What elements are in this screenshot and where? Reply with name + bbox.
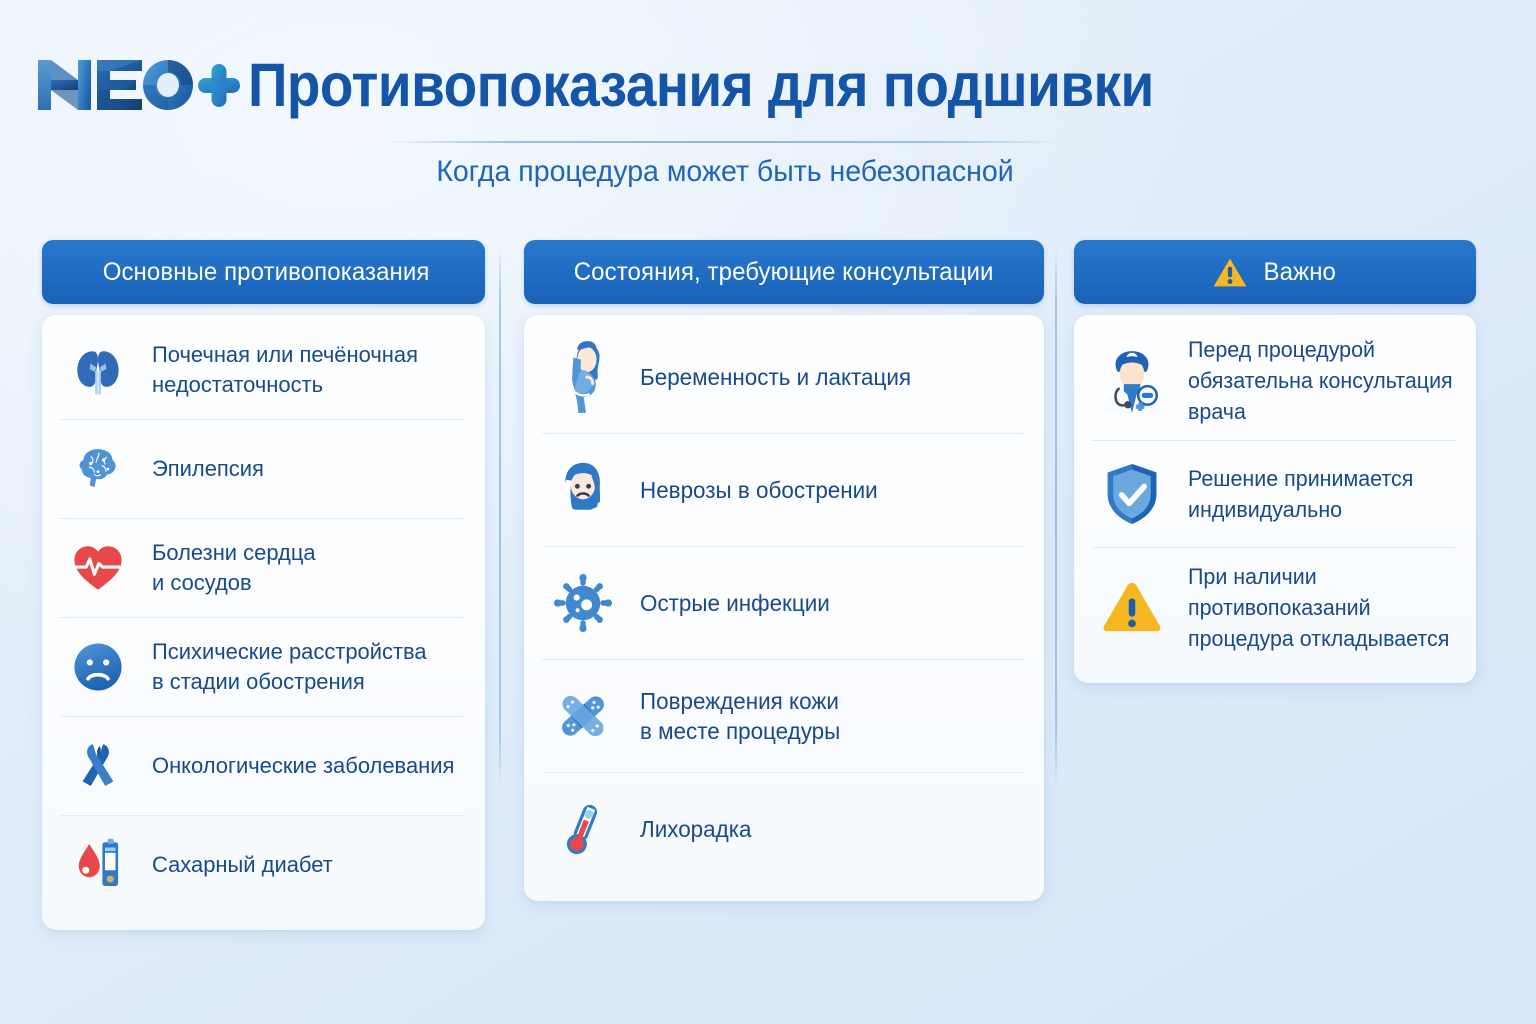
- list-item[interactable]: Почечная или печёночная недостаточность: [60, 321, 465, 420]
- list-item-line: Почечная или печёночная: [152, 340, 418, 370]
- list-item-text: Онкологические заболевания: [152, 751, 454, 781]
- list-item[interactable]: Онкологические заболевания: [60, 717, 465, 816]
- list-item-line: недостаточность: [152, 370, 418, 400]
- list-item-text: Лихорадка: [640, 814, 751, 844]
- sad-face-icon: [62, 631, 134, 703]
- list-item-text: Психические расстройства в стадии обостр…: [152, 637, 427, 697]
- list-item-line: Неврозы в обострении: [640, 475, 878, 505]
- list-item-line: процедура откладывается: [1188, 623, 1449, 654]
- list-item[interactable]: Неврозы в обострении: [542, 434, 1024, 547]
- distressed-woman-icon: [544, 448, 622, 532]
- warning-triangle-icon: [1212, 256, 1248, 289]
- list-item-line: в месте процедуры: [640, 716, 840, 746]
- list-item[interactable]: Беременность и лактация: [542, 321, 1024, 434]
- column-3-header-label: Важно: [1264, 258, 1336, 287]
- list-item-line: противопоказаний: [1188, 592, 1449, 623]
- list-item-text: Сахарный диабет: [152, 850, 333, 880]
- column-3-card: Перед процедурой обязательна консультаци…: [1074, 315, 1476, 683]
- column-main-contraindications: Основные противопоказания Почечная или п…: [42, 240, 485, 930]
- list-item[interactable]: Решение принимается индивидуально: [1092, 441, 1456, 548]
- column-consultation-conditions: Состояния, требующие консультации: [524, 240, 1044, 901]
- column-2-header: Состояния, требующие консультации: [524, 240, 1044, 304]
- list-item-text: Болезни сердца и сосудов: [152, 538, 316, 598]
- list-item[interactable]: Психические расстройства в стадии обостр…: [60, 618, 465, 717]
- kidneys-icon: [62, 334, 134, 406]
- list-item[interactable]: Эпилепсия: [60, 420, 465, 519]
- list-item-line: Психические расстройства: [152, 637, 427, 667]
- list-item-line: Острые инфекции: [640, 588, 830, 618]
- brain-icon: [62, 433, 134, 505]
- column-1-card: Почечная или печёночная недостаточность: [42, 315, 485, 930]
- awareness-ribbon-icon: [62, 730, 134, 802]
- list-item-line: Лихорадка: [640, 814, 751, 844]
- list-item-text: Почечная или печёночная недостаточность: [152, 340, 418, 400]
- heart-pulse-icon: [62, 532, 134, 604]
- blood-glucose-meter-icon: [62, 829, 134, 901]
- pregnant-woman-icon: [544, 335, 622, 419]
- list-item-line: обязательна консультация: [1188, 365, 1453, 396]
- list-item[interactable]: При наличии противопоказаний процедура о…: [1092, 548, 1456, 667]
- column-important: Важно: [1074, 240, 1476, 683]
- list-item-line: врача: [1188, 396, 1453, 427]
- list-item-text: Повреждения кожи в месте процедуры: [640, 686, 840, 746]
- list-item-line: При наличии: [1188, 561, 1449, 592]
- list-item[interactable]: Сахарный диабет: [60, 816, 465, 914]
- list-item-text: Решение принимается индивидуально: [1188, 463, 1413, 525]
- list-item-line: Эпилепсия: [152, 454, 264, 484]
- list-item-line: индивидуально: [1188, 494, 1413, 525]
- list-item[interactable]: Перед процедурой обязательна консультаци…: [1092, 321, 1456, 441]
- columns-area: Основные противопоказания Почечная или п…: [0, 0, 1536, 1024]
- list-item-text: Эпилепсия: [152, 454, 264, 484]
- doctor-icon: [1094, 341, 1170, 421]
- list-item-line: Беременность и лактация: [640, 362, 911, 392]
- column-divider-1: [499, 246, 501, 786]
- column-3-header: Важно: [1074, 240, 1476, 304]
- column-2-header-label: Состояния, требующие консультации: [574, 258, 994, 287]
- column-2-card: Беременность и лактация Не: [524, 315, 1044, 901]
- column-divider-2: [1055, 246, 1057, 788]
- list-item-line: Перед процедурой: [1188, 334, 1453, 365]
- list-item[interactable]: Острые инфекции: [542, 547, 1024, 660]
- list-item-text: Неврозы в обострении: [640, 475, 878, 505]
- list-item-line: Онкологические заболевания: [152, 751, 454, 781]
- list-item-line: Болезни сердца: [152, 538, 316, 568]
- list-item-text: При наличии противопоказаний процедура о…: [1188, 561, 1449, 654]
- shield-check-icon: [1094, 454, 1170, 534]
- thermometer-icon: [544, 787, 622, 871]
- list-item-line: и сосудов: [152, 568, 316, 598]
- list-item[interactable]: Лихорадка: [542, 773, 1024, 885]
- list-item-line: Сахарный диабет: [152, 850, 333, 880]
- bandage-icon: [544, 674, 622, 758]
- list-item-line: в стадии обострения: [152, 667, 427, 697]
- column-1-header: Основные противопоказания: [42, 240, 485, 304]
- column-1-header-label: Основные противопоказания: [97, 258, 430, 287]
- list-item[interactable]: Болезни сердца и сосудов: [60, 519, 465, 618]
- list-item-text: Беременность и лактация: [640, 362, 911, 392]
- list-item-line: Решение принимается: [1188, 463, 1413, 494]
- list-item-text: Острые инфекции: [640, 588, 830, 618]
- list-item-text: Перед процедурой обязательна консультаци…: [1188, 334, 1453, 427]
- warning-triangle-icon: [1094, 568, 1170, 648]
- list-item[interactable]: Повреждения кожи в месте процедуры: [542, 660, 1024, 773]
- virus-icon: [544, 561, 622, 645]
- list-item-line: Повреждения кожи: [640, 686, 840, 716]
